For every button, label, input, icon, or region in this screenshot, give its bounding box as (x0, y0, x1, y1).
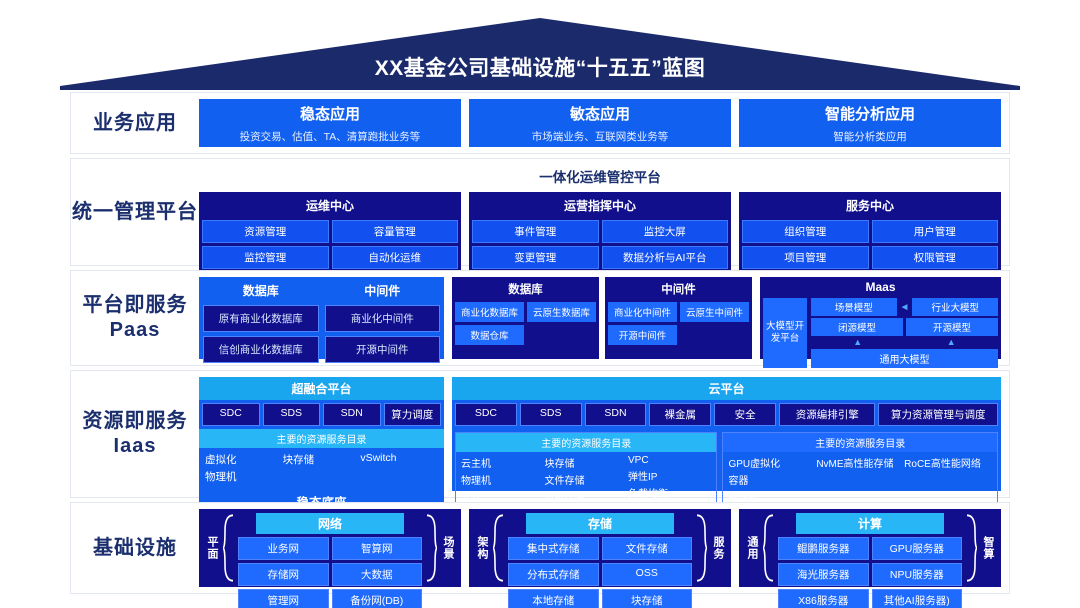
center-item[interactable]: 自动化运维 (332, 246, 459, 269)
service-item: 物理机 (205, 469, 283, 484)
service-item: 文件存储 (545, 472, 629, 487)
paas-column-title: 数据库 (455, 280, 596, 299)
roof-banner: XX基金公司基础设施“十五五”蓝图 (60, 18, 1020, 90)
row-label-infrastructure: 基础设施 (71, 503, 199, 593)
business-card-subtitle: 投资交易、估值、TA、清算跑批业务等 (240, 129, 421, 144)
service-item: 负载均衡 (628, 485, 712, 500)
infra-item[interactable]: 分布式存储 (508, 563, 599, 586)
paas-item[interactable]: 商业化数据库 (455, 302, 524, 322)
paas-item[interactable]: 信创商业化数据库 (203, 336, 319, 363)
maas-general-model[interactable]: 通用大模型 (811, 349, 998, 368)
center-item[interactable]: 容量管理 (332, 220, 459, 243)
infra-title: 存储 (526, 513, 673, 534)
business-card-subtitle: 智能分析类应用 (833, 129, 907, 144)
row-label-paas: 平台即服务Paas (71, 271, 199, 365)
center-item[interactable]: 项目管理 (742, 246, 869, 269)
hyper-capability-chips: SDC SDS SDN 算力调度 (199, 400, 444, 429)
center-item[interactable]: 数据分析与AI平台 (602, 246, 729, 269)
cloud-chip[interactable]: SDS (520, 403, 582, 426)
paas-item[interactable]: 商业化中间件 (325, 305, 441, 332)
business-card-title: 智能分析应用 (825, 103, 915, 124)
paas-column-title: 中间件 (325, 281, 441, 301)
brace-left-icon (763, 513, 775, 583)
service-item: RoCE高性能网络 (904, 455, 992, 470)
infra-left-label: 架构 (474, 513, 490, 583)
paas-cloud-group: 数据库 商业化数据库 云原生数据库 数据仓库 中间件 商业化中间件 云原生中间件… (452, 277, 752, 359)
paas-item[interactable]: 云原生数据库 (527, 302, 596, 322)
infra-item[interactable]: 智算网 (332, 537, 423, 560)
maas-panel: Maas 大模型开发平台 场景模型 ◄ 行业大模型 闭源模型 开源模型 (760, 277, 1001, 359)
infra-item[interactable]: 管理网 (238, 589, 329, 608)
infra-right-label: 场景 (440, 513, 456, 583)
integrated-platform-title: 一体化运维管控平台 (199, 165, 1001, 188)
center-item[interactable]: 资源管理 (202, 220, 329, 243)
business-cards: 稳态应用 投资交易、估值、TA、清算跑批业务等 敏态应用 市场端业务、互联网类业… (199, 93, 1009, 153)
row-label-business: 业务应用 (71, 93, 199, 153)
paas-body: 数据库 原有商业化数据库 信创商业化数据库 中间件 商业化中间件 开源中间件 数… (199, 271, 1009, 365)
infra-item[interactable]: 文件存储 (602, 537, 693, 560)
infra-left-label: 平面 (204, 513, 220, 583)
service-item: vSwitch (360, 452, 438, 464)
paas-item[interactable]: 数据仓库 (455, 325, 524, 345)
cloud-chip[interactable]: SDC (455, 403, 517, 426)
hyper-chip[interactable]: SDC (202, 403, 260, 426)
service-item: 弹性IP (628, 468, 712, 483)
maas-scene-model[interactable]: 场景模型 (811, 298, 897, 316)
business-card[interactable]: 敏态应用 市场端业务、互联网类业务等 (469, 99, 731, 147)
service-item: NvME高性能存储 (816, 455, 904, 470)
paas-legacy-group: 数据库 原有商业化数据库 信创商业化数据库 中间件 商业化中间件 开源中间件 (199, 277, 444, 359)
center-item[interactable]: 事件管理 (472, 220, 599, 243)
brace-right-icon (965, 513, 977, 583)
cloud-chip[interactable]: 资源编排引擎 (779, 403, 875, 426)
center-item[interactable]: 权限管理 (872, 246, 999, 269)
service-item: 容器 (728, 472, 816, 487)
maas-closed-model[interactable]: 闭源模型 (811, 318, 903, 336)
row-unified-management: 统一管理平台 一体化运维管控平台 运维中心 资源管理 容量管理 监控管理 自动化… (70, 158, 1010, 266)
infra-item[interactable]: NPU服务器 (872, 563, 963, 586)
cloud-platform: 云平台 SDC SDS SDN 裸金属 安全 资源编排引擎 算力资源管理与调度 … (452, 377, 1001, 491)
center-title: 服务中心 (742, 195, 998, 217)
infra-left-label: 通用 (744, 513, 760, 583)
service-item: 块存储 (283, 452, 361, 467)
brace-left-icon (493, 513, 505, 583)
infra-item[interactable]: 存储网 (238, 563, 329, 586)
infra-item[interactable]: 本地存储 (508, 589, 599, 608)
brace-right-icon (425, 513, 437, 583)
cloud-capability-chips: SDC SDS SDN 裸金属 安全 资源编排引擎 算力资源管理与调度 (452, 400, 1001, 429)
cloud-catalog-ai: 主要的资源服务目录 GPU虚拟化 容器 物理机 NvME高性能存储 (722, 432, 998, 508)
cloud-chip[interactable]: SDN (585, 403, 647, 426)
service-item: VPC (628, 455, 712, 466)
paas-cloud-middleware: 中间件 商业化中间件 云原生中间件 开源中间件 (605, 277, 752, 359)
cloud-chip[interactable]: 裸金属 (649, 403, 711, 426)
center-title: 运维中心 (202, 195, 458, 217)
infra-block-compute: 通用 计算 鲲鹏服务器 GPU服务器 海光服务器 NPU服务器 X86服务器 其… (739, 509, 1001, 587)
service-item: GPU虚拟化 (728, 455, 816, 470)
paas-middleware-column: 中间件 商业化中间件 开源中间件 (325, 281, 441, 355)
maas-dev-platform[interactable]: 大模型开发平台 (763, 298, 807, 368)
business-card[interactable]: 稳态应用 投资交易、估值、TA、清算跑批业务等 (199, 99, 461, 147)
hyper-catalog-bar: 主要的资源服务目录 (199, 429, 444, 448)
business-card-title: 敏态应用 (570, 103, 630, 124)
center-item[interactable]: 变更管理 (472, 246, 599, 269)
iaas-body: 超融合平台 SDC SDS SDN 算力调度 主要的资源服务目录 虚拟化 物理机… (199, 371, 1009, 497)
maas-industry-model[interactable]: 行业大模型 (912, 298, 998, 316)
infra-item[interactable]: 备份网(DB) (332, 589, 423, 608)
paas-item[interactable]: 开源中间件 (608, 325, 677, 345)
cloud-catalog-bar: 主要的资源服务目录 (456, 433, 716, 452)
row-label-iaas: 资源即服务Iaas (71, 371, 199, 497)
infra-item[interactable]: 其他AI服务器) (872, 589, 963, 608)
row-infrastructure: 基础设施 平面 网络 业务网 智算网 存储网 大数据 管理网 备份网(DB) (70, 502, 1010, 594)
business-card[interactable]: 智能分析应用 智能分析类应用 (739, 99, 1001, 147)
paas-item-empty (680, 325, 749, 345)
paas-item-empty (527, 325, 596, 345)
center-item[interactable]: 监控大屏 (602, 220, 729, 243)
paas-column-title: 数据库 (203, 281, 319, 301)
hyperconverged-platform: 超融合平台 SDC SDS SDN 算力调度 主要的资源服务目录 虚拟化 物理机… (199, 377, 444, 491)
center-title: 运营指挥中心 (472, 195, 728, 217)
infra-item[interactable]: 业务网 (238, 537, 329, 560)
cloud-title: 云平台 (452, 377, 1001, 400)
infra-item[interactable]: 海光服务器 (778, 563, 869, 586)
infra-item[interactable]: X86服务器 (778, 589, 869, 608)
cloud-chip[interactable]: 算力资源管理与调度 (878, 403, 998, 426)
infra-item[interactable]: 集中式存储 (508, 537, 599, 560)
infra-item[interactable]: 块存储 (602, 589, 693, 608)
arrow-left-icon: ◄ (900, 302, 910, 313)
service-item: 虚拟化 (205, 452, 283, 467)
business-card-subtitle: 市场端业务、互联网类业务等 (532, 129, 669, 144)
center-item[interactable]: 监控管理 (202, 246, 329, 269)
cloud-catalog-general: 主要的资源服务目录 云主机 物理机 容器 块存储 文件存储 对象存储 (455, 432, 717, 508)
infra-item[interactable]: 鲲鹏服务器 (778, 537, 869, 560)
brace-right-icon (695, 513, 707, 583)
paas-column-title: 中间件 (608, 280, 749, 299)
maas-open-model[interactable]: 开源模型 (906, 318, 998, 336)
paas-item[interactable]: 商业化中间件 (608, 302, 677, 322)
paas-item[interactable]: 云原生中间件 (680, 302, 749, 322)
cloud-chip[interactable]: 安全 (714, 403, 776, 426)
cloud-catalog-bar: 主要的资源服务目录 (723, 433, 997, 452)
infra-item[interactable]: GPU服务器 (872, 537, 963, 560)
service-item: 云主机 (461, 455, 545, 470)
center-item[interactable]: 组织管理 (742, 220, 869, 243)
infra-block-network: 平面 网络 业务网 智算网 存储网 大数据 管理网 备份网(DB) (199, 509, 461, 587)
hyper-chip[interactable]: 算力调度 (384, 403, 442, 426)
center-item[interactable]: 用户管理 (872, 220, 999, 243)
infra-item[interactable]: 大数据 (332, 563, 423, 586)
infra-right-label: 智算 (980, 513, 996, 583)
infrastructure-body: 平面 网络 业务网 智算网 存储网 大数据 管理网 备份网(DB) (199, 503, 1009, 593)
management-body: 一体化运维管控平台 运维中心 资源管理 容量管理 监控管理 自动化运维 监控巡检… (199, 159, 1009, 265)
hyper-chip[interactable]: SDN (323, 403, 381, 426)
infra-right-label: 服务 (710, 513, 726, 583)
row-label-management: 统一管理平台 (71, 159, 199, 265)
maas-title: Maas (763, 280, 998, 295)
paas-database-column: 数据库 原有商业化数据库 信创商业化数据库 (203, 281, 319, 355)
page-title: XX基金公司基础设施“十五五”蓝图 (60, 52, 1020, 82)
blueprint-diagram: XX基金公司基础设施“十五五”蓝图 业务应用 稳态应用 投资交易、估值、TA、清… (0, 0, 1080, 608)
row-business-application: 业务应用 稳态应用 投资交易、估值、TA、清算跑批业务等 敏态应用 市场端业务、… (70, 92, 1010, 154)
infra-item[interactable]: OSS (602, 563, 693, 586)
brace-left-icon (223, 513, 235, 583)
arrow-up-icon: ▲ (905, 338, 999, 347)
service-item: 物理机 (461, 472, 545, 487)
paas-item[interactable]: 原有商业化数据库 (203, 305, 319, 332)
hyper-chip[interactable]: SDS (263, 403, 321, 426)
paas-item[interactable]: 开源中间件 (325, 336, 441, 363)
hyper-services: 虚拟化 物理机 块存储 vSwitch (199, 448, 444, 488)
row-paas: 平台即服务Paas 数据库 原有商业化数据库 信创商业化数据库 中间件 商业化中… (70, 270, 1010, 366)
row-iaas: 资源即服务Iaas 超融合平台 SDC SDS SDN 算力调度 主要的资源服务… (70, 370, 1010, 498)
infra-block-storage: 架构 存储 集中式存储 文件存储 分布式存储 OSS 本地存储 块存储 (469, 509, 731, 587)
business-card-title: 稳态应用 (300, 103, 360, 124)
paas-cloud-database: 数据库 商业化数据库 云原生数据库 数据仓库 (452, 277, 599, 359)
infra-title: 计算 (796, 513, 943, 534)
arrow-up-icon: ▲ (811, 338, 905, 347)
service-item: 块存储 (545, 455, 629, 470)
infra-title: 网络 (256, 513, 403, 534)
hyper-title: 超融合平台 (199, 377, 444, 400)
